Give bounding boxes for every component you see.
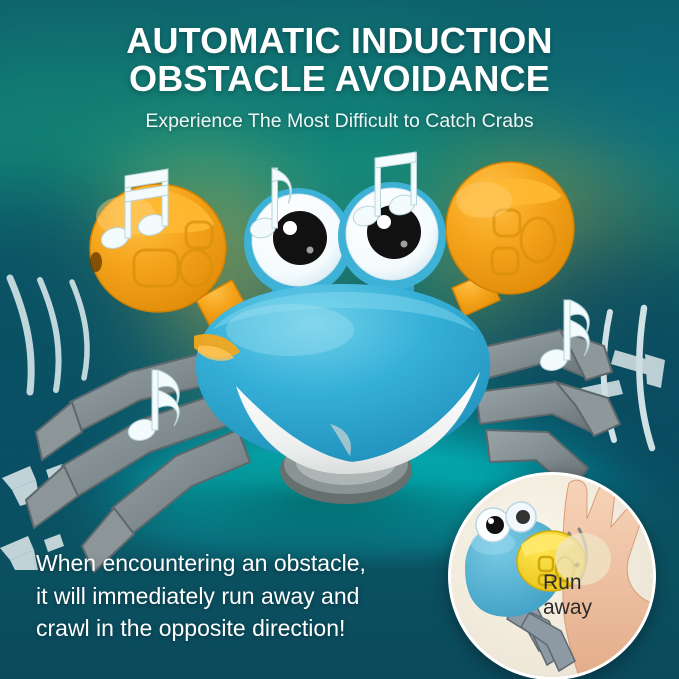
crab-claw-right bbox=[446, 162, 574, 316]
description-line-1: When encountering an obstacle, bbox=[36, 547, 366, 580]
banner-header: AUTOMATIC INDUCTION OBSTACLE AVOIDANCE E… bbox=[0, 22, 679, 133]
inset-label-line-2: away bbox=[543, 596, 623, 621]
description-line-3: crawl in the opposite direction! bbox=[36, 612, 366, 645]
inset-label: Run away bbox=[543, 571, 623, 621]
inset-label-line-1: Run bbox=[543, 571, 623, 596]
crab-claw-left bbox=[90, 184, 246, 326]
headline: AUTOMATIC INDUCTION OBSTACLE AVOIDANCE bbox=[0, 22, 679, 98]
description-line-2: it will immediately run away and bbox=[36, 580, 366, 613]
description-text: When encountering an obstacle, it will i… bbox=[36, 547, 366, 645]
headline-line-1: AUTOMATIC INDUCTION bbox=[126, 20, 552, 61]
product-banner: AUTOMATIC INDUCTION OBSTACLE AVOIDANCE E… bbox=[0, 0, 679, 679]
headline-line-2: OBSTACLE AVOIDANCE bbox=[28, 60, 651, 98]
crab-eye-left bbox=[244, 188, 352, 296]
subheadline: Experience The Most Difficult to Catch C… bbox=[0, 110, 679, 133]
inset-photo-run-away: Run away bbox=[448, 472, 656, 679]
crab-eye-right bbox=[338, 182, 446, 290]
